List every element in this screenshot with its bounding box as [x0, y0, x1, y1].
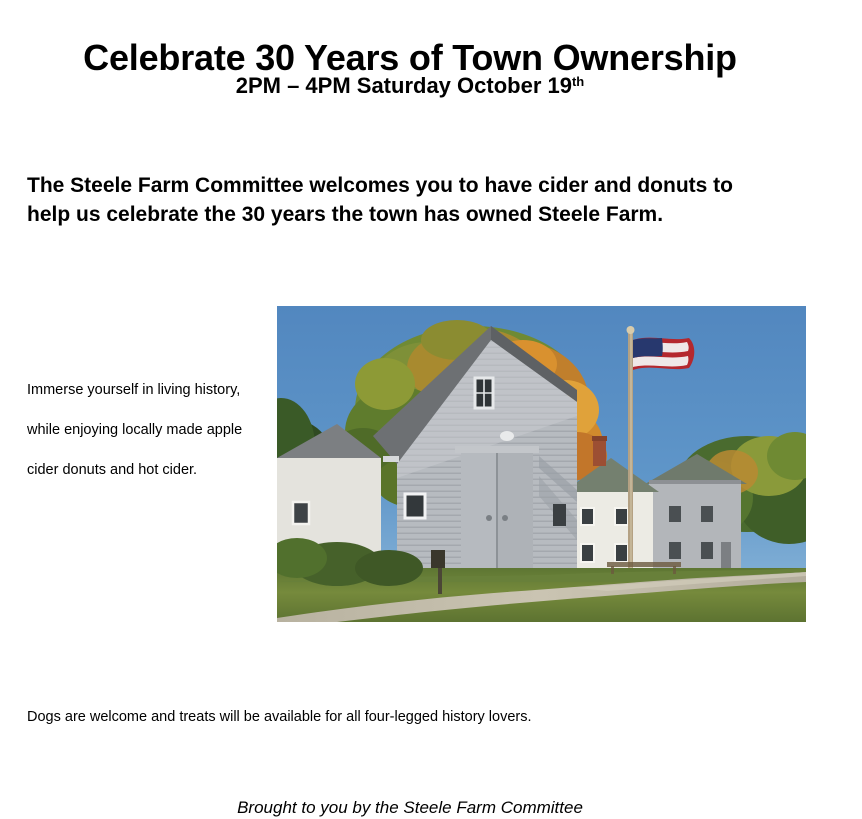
photo-illustration — [277, 306, 806, 622]
event-datetime-text: 2PM – 4PM Saturday October 19 — [236, 73, 572, 98]
steele-farm-photo — [277, 306, 806, 622]
footer-credit: Brought to you by the Steele Farm Commit… — [0, 797, 820, 819]
ordinal-suffix: th — [572, 74, 584, 89]
intro-paragraph: The Steele Farm Committee welcomes you t… — [27, 171, 757, 229]
side-caption: Immerse yourself in living history, whil… — [27, 370, 252, 490]
dogs-note: Dogs are welcome and treats will be avai… — [27, 707, 787, 727]
bench — [607, 562, 681, 567]
flyer-page: Celebrate 30 Years of Town Ownership 2PM… — [0, 0, 862, 808]
american-flag — [633, 338, 694, 370]
event-datetime: 2PM – 4PM Saturday October 19th — [0, 68, 820, 100]
